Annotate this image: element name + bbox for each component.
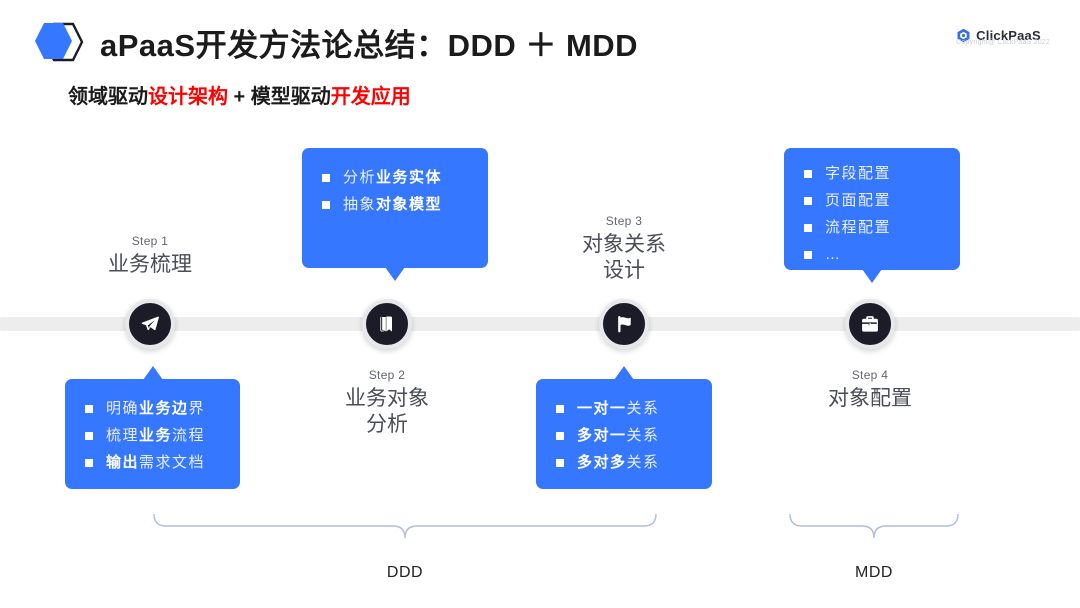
callout-step-2[interactable]: 分析业务实体 抽象对象模型 (302, 148, 488, 268)
callout-step-4[interactable]: 字段配置 页面配置 流程配置 … (784, 148, 960, 270)
square-bullet-icon (804, 197, 812, 205)
callout-text: 明确 (106, 401, 139, 416)
timeline-node-step-4[interactable] (845, 299, 895, 349)
step-number-1: Step 1 (60, 234, 240, 248)
list-item: 分析业务实体 (322, 164, 468, 191)
callout-text: 流程配置 (825, 220, 891, 235)
step-caption-step-1: Step 1 业务梳理 (60, 234, 240, 278)
square-bullet-icon (804, 251, 812, 259)
step-title-3: 对象关系 设计 (534, 232, 714, 283)
paper-plane-icon (140, 314, 160, 334)
briefcase-icon (860, 314, 880, 334)
callout-text: 关系 (627, 455, 660, 470)
step-title-3-line-2: 设计 (534, 258, 714, 284)
square-bullet-icon (556, 405, 564, 413)
square-bullet-icon (85, 405, 93, 413)
square-bullet-icon (804, 170, 812, 178)
callout-text: 字段配置 (825, 166, 891, 181)
group-label-mdd: MDD (774, 564, 974, 582)
callout-text: 需求文档 (139, 455, 205, 470)
step-title-3-line-1: 对象关系 (534, 232, 714, 258)
subtitle-part-0: 领域驱动 (68, 86, 148, 108)
square-bullet-icon (804, 224, 812, 232)
timeline-node-step-2[interactable] (362, 299, 412, 349)
list-item: 梳理业务流程 (85, 422, 220, 449)
callout-step-3[interactable]: 一对一关系 多对一关系 多对多关系 (536, 379, 712, 489)
callout-text-bold: 业务边 (139, 401, 189, 416)
list-item: 输出需求文档 (85, 449, 220, 476)
callout-text: 关系 (627, 428, 660, 443)
callout-tail (143, 366, 163, 380)
list-item: 一对一关系 (556, 395, 692, 422)
callout-step-1-list: 明确业务边界 梳理业务流程 输出需求文档 (85, 395, 220, 476)
timeline-node-step-3[interactable] (599, 299, 649, 349)
step-caption-step-3: Step 3 对象关系 设计 (534, 214, 714, 283)
subtitle-part-2: + 模型驱动 (228, 86, 331, 108)
callout-text: 页面配置 (825, 193, 891, 208)
slide-canvas: aPaaS开发方法论总结：DDD ＋ MDD 领域驱动设计架构 + 模型驱动开发… (0, 0, 1080, 608)
list-item: 流程配置 (804, 214, 940, 241)
step-caption-step-4: Step 4 对象配置 (780, 368, 960, 412)
callout-tail (614, 366, 634, 380)
callout-step-3-list: 一对一关系 多对一关系 多对多关系 (556, 395, 692, 476)
callout-step-1[interactable]: 明确业务边界 梳理业务流程 输出需求文档 (65, 379, 240, 489)
square-bullet-icon (85, 459, 93, 467)
step-number-4: Step 4 (780, 368, 960, 382)
square-bullet-icon (556, 432, 564, 440)
callout-text: 抽象 (343, 197, 376, 212)
step-title-2-line-1: 业务对象 (297, 386, 477, 412)
callout-text-bold: 输出 (106, 455, 139, 470)
callout-text: 分析 (343, 170, 376, 185)
step-title-2-line-2: 分析 (297, 412, 477, 438)
square-bullet-icon (556, 459, 564, 467)
step-number-2: Step 2 (297, 368, 477, 382)
brace-mdd (786, 512, 962, 550)
step-number-3: Step 3 (534, 214, 714, 228)
step-title-2: 业务对象 分析 (297, 386, 477, 437)
callout-text-bold: 一对一 (577, 401, 627, 416)
list-item: 页面配置 (804, 187, 940, 214)
list-item: 明确业务边界 (85, 395, 220, 422)
callout-text-bold: 对象模型 (376, 197, 442, 212)
subtitle-part-1: 设计架构 (148, 86, 228, 108)
callout-text: 关系 (627, 401, 660, 416)
step-title-4: 对象配置 (780, 386, 960, 412)
list-item: … (804, 241, 940, 268)
callout-text: … (825, 247, 842, 262)
step-caption-step-2: Step 2 业务对象 分析 (297, 368, 477, 437)
page-subtitle: 领域驱动设计架构 + 模型驱动开发应用 (68, 80, 411, 109)
page-title: aPaaS开发方法论总结：DDD ＋ MDD (100, 20, 638, 65)
callout-tail (385, 267, 405, 281)
hexagon-logo-icon (32, 18, 88, 68)
timeline-node-step-1[interactable] (125, 299, 175, 349)
flag-icon (614, 314, 634, 334)
square-bullet-icon (322, 174, 330, 182)
brand-watermark: ClickPaaS Copyright@ ClickPaaS 2022 (956, 28, 1050, 46)
book-icon (377, 314, 397, 334)
callout-text: 梳理 (106, 428, 139, 443)
callout-text: 界 (189, 401, 206, 416)
group-label-ddd: DDD (305, 564, 505, 582)
list-item: 多对多关系 (556, 449, 692, 476)
callout-text-bold: 多对一 (577, 428, 627, 443)
list-item: 字段配置 (804, 160, 940, 187)
subtitle-part-3: 开发应用 (331, 86, 411, 108)
callout-step-4-list: 字段配置 页面配置 流程配置 … (804, 160, 940, 268)
callout-text-bold: 业务 (139, 428, 172, 443)
brace-ddd (150, 512, 660, 550)
callout-step-2-list: 分析业务实体 抽象对象模型 (322, 164, 468, 218)
callout-text-bold: 多对多 (577, 455, 627, 470)
brand-copyright: Copyright@ ClickPaaS 2022 (956, 39, 1050, 46)
list-item: 抽象对象模型 (322, 191, 468, 218)
square-bullet-icon (322, 201, 330, 209)
callout-text: 流程 (172, 428, 205, 443)
list-item: 多对一关系 (556, 422, 692, 449)
callout-text-bold: 业务实体 (376, 170, 442, 185)
square-bullet-icon (85, 432, 93, 440)
callout-tail (862, 269, 882, 283)
step-title-1: 业务梳理 (60, 252, 240, 278)
